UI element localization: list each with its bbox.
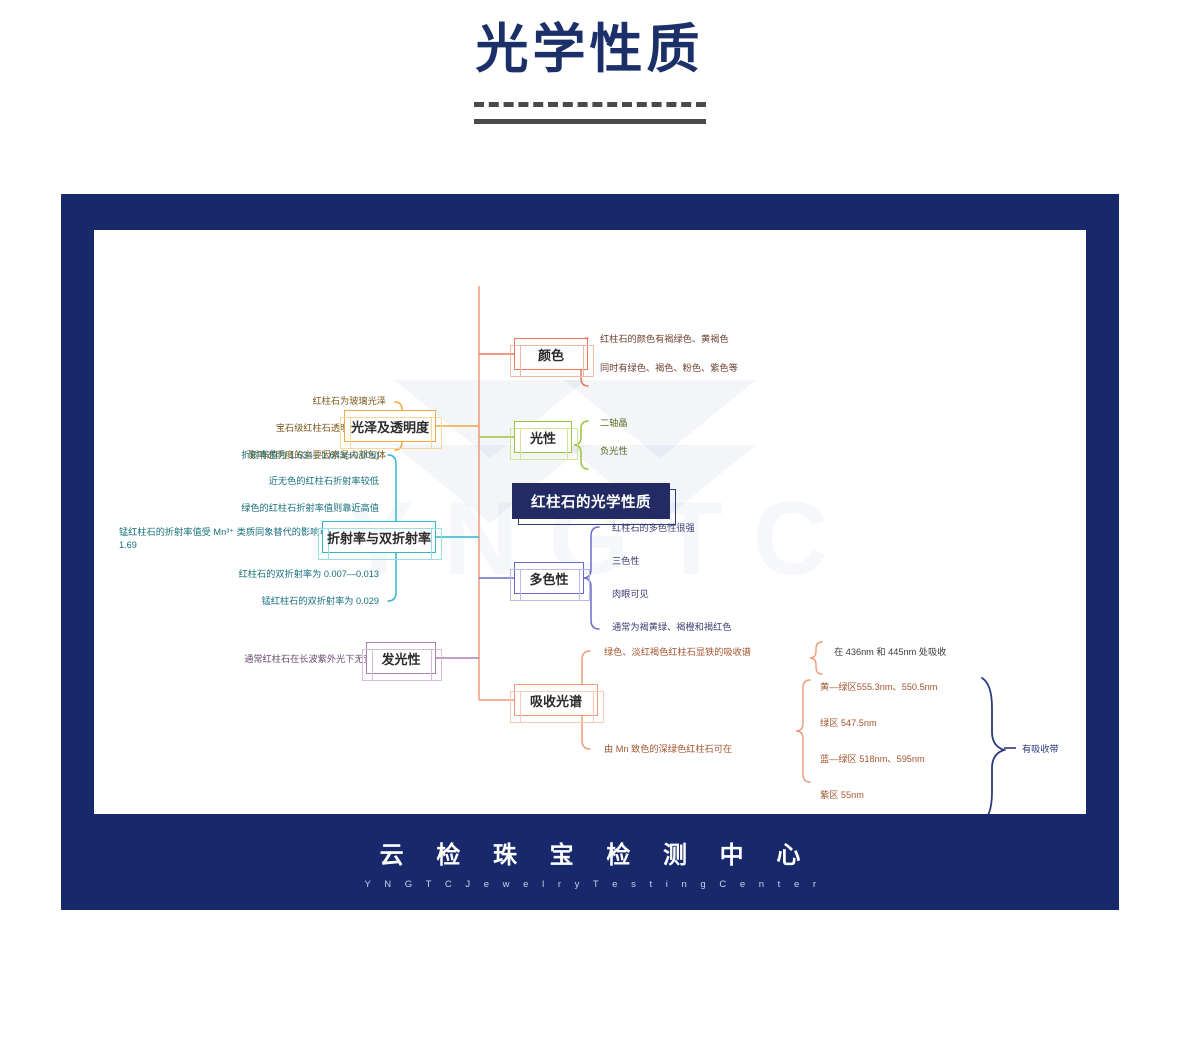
leaf-pleochroism-2: 三色性 <box>612 555 640 568</box>
branch-node-color[interactable]: 颜色 <box>514 338 588 370</box>
navy-frame: YNGTC <box>61 194 1119 910</box>
dashed-rule <box>474 102 706 107</box>
footer: 云 检 珠 宝 检 测 中 心 Y N G T C J e w e l r y … <box>61 835 1119 890</box>
leaf-refractive-1: 折射率值为 1.634—1.643(±0.005) <box>94 449 379 462</box>
mindmap-canvas: YNGTC <box>94 230 1086 814</box>
footer-title-en: Y N G T C J e w e l r y T e s t i n g C … <box>61 879 1119 890</box>
leaf-absorption-mn-4: 紫区 55nm <box>820 789 864 802</box>
leaf-refractive-5: 红柱石的双折射率为 0.007—0.013 <box>94 568 379 581</box>
leaf-pleochroism-3: 肉眼可见 <box>612 588 649 601</box>
leaf-optic-1: 二轴晶 <box>600 417 628 430</box>
leaf-color-1: 红柱石的颜色有褐绿色、黄褐色 <box>600 333 729 346</box>
leaf-refractive-3: 绿色的红柱石折射率值则靠近高值 <box>94 502 379 515</box>
leaf-absorption-mn-3: 蓝—绿区 518nm、595nm <box>820 753 925 766</box>
title-rules <box>0 94 1179 124</box>
branch-node-refractive[interactable]: 折射率与双折射率 <box>322 521 436 553</box>
leaf-luminescence-1: 通常红柱石在长波紫外光下无荧光 <box>94 653 382 666</box>
leaf-color-2: 同时有绿色、褐色、粉色、紫色等 <box>600 362 738 375</box>
branch-node-absorption[interactable]: 吸收光谱 <box>514 684 598 716</box>
footer-title-cn: 云 检 珠 宝 检 测 中 心 <box>61 835 1119 870</box>
leaf-refractive-6: 锰红柱石的双折射率为 0.029 <box>94 595 379 608</box>
branch-node-pleochroism[interactable]: 多色性 <box>514 562 584 594</box>
leaf-refractive-2: 近无色的红柱石折射率较低 <box>94 475 379 488</box>
leaf-absorption-mn-2: 绿区 547.5nm <box>820 717 877 730</box>
leaf-pleochroism-1: 红柱石的多色性很强 <box>612 522 695 535</box>
title-block: 光学性质 <box>0 22 1179 124</box>
root-node[interactable]: 红柱石的光学性质 <box>512 483 670 519</box>
branch-node-gloss[interactable]: 光泽及透明度 <box>344 410 436 442</box>
page-title: 光学性质 <box>0 22 1179 78</box>
leaf-absorption-tail: 有吸收带 <box>1022 743 1059 756</box>
leaf-pleochroism-4: 通常为褐黄绿、褐橙和褐红色 <box>612 621 731 634</box>
leaf-optic-2: 负光性 <box>600 445 628 458</box>
branch-node-optic[interactable]: 光性 <box>514 421 572 453</box>
leaf-absorption-iron-1: 在 436nm 和 445nm 处吸收 <box>834 646 946 659</box>
branch-node-luminescence[interactable]: 发光性 <box>366 642 436 674</box>
leaf-absorption-1: 绿色、淡红褐色红柱石显铁的吸收谱 <box>604 646 751 659</box>
solid-rule <box>474 119 706 124</box>
leaf-absorption-mn-1: 黄—绿区555.3nm、550.5nm <box>820 681 937 694</box>
leaf-absorption-2: 由 Mn 致色的深绿色红柱石可在 <box>604 743 732 756</box>
leaf-gloss-1: 红柱石为玻璃光泽 <box>94 395 386 408</box>
